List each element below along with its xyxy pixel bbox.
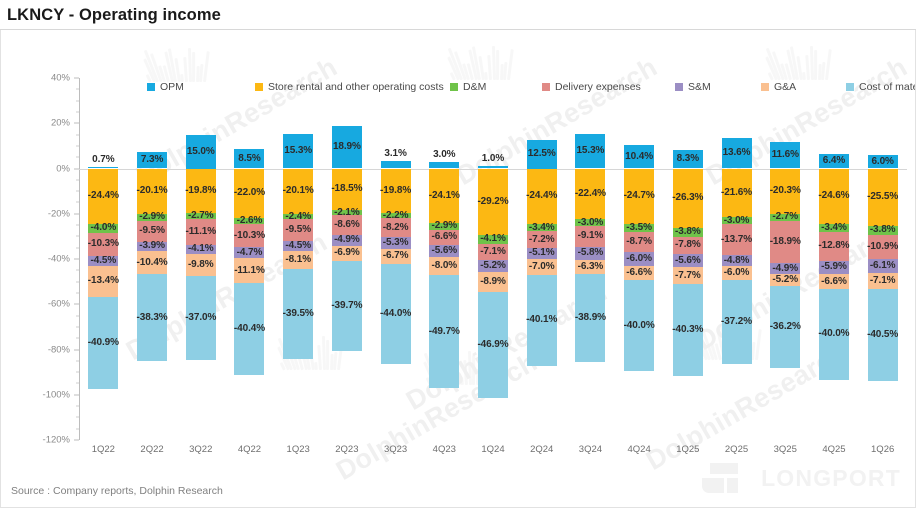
- x-axis-label: 1Q22: [92, 444, 115, 455]
- bar-segment-label: -4.5%: [285, 241, 311, 251]
- bar-segment-label: 7.3%: [141, 155, 163, 165]
- bar-segment-label: -4.1%: [480, 234, 506, 244]
- bar-segment[interactable]: -4.7%: [234, 247, 264, 258]
- bar-segment-label: -4.9%: [772, 264, 798, 274]
- bar-segment[interactable]: -7.0%: [527, 259, 557, 275]
- legend-item-store-rental-and-other-operating-costs[interactable]: Store rental and other operating costs: [255, 80, 444, 94]
- bar-segment[interactable]: -11.1%: [186, 219, 216, 244]
- bar-segment-label: -7.7%: [675, 271, 701, 281]
- bar-segment-label: -46.9%: [477, 340, 508, 350]
- bar-segment[interactable]: 8.5%: [234, 149, 264, 168]
- bar-segment-label: -20.3%: [770, 186, 801, 196]
- bar-segment[interactable]: -11.1%: [234, 258, 264, 283]
- bar-segment-label: -25.5%: [867, 192, 898, 202]
- x-axis-label: 1Q24: [481, 444, 504, 455]
- bar-segment[interactable]: -25.5%: [868, 169, 898, 227]
- bar-segment[interactable]: 8.3%: [673, 150, 703, 169]
- bar-segment[interactable]: -29.2%: [478, 169, 508, 235]
- source-note: Source : Company reports, Dolphin Resear…: [11, 485, 223, 497]
- bar-segment-label: -19.8%: [185, 186, 216, 196]
- bar-segment-label: -40.0%: [624, 321, 655, 331]
- bar-segment-label: 8.3%: [677, 154, 699, 164]
- bar-segment-label: -10.4%: [137, 258, 168, 268]
- bar-segment[interactable]: -8.0%: [429, 257, 459, 275]
- bar-segment[interactable]: -19.8%: [186, 169, 216, 214]
- bar-segment[interactable]: -6.1%: [868, 259, 898, 273]
- bar-segment-label: -12.8%: [818, 241, 849, 251]
- bar-segment[interactable]: -40.1%: [527, 275, 557, 366]
- legend-swatch-icon: [542, 83, 550, 91]
- bar-segment-label: -18.5%: [331, 184, 362, 194]
- x-axis-label: 2Q23: [335, 444, 358, 455]
- bar-segment-label: -6.6%: [626, 268, 652, 278]
- x-axis-label: 4Q24: [627, 444, 650, 455]
- bar-segment[interactable]: -10.4%: [137, 251, 167, 275]
- chart-page: LKNCY - Operating income DolphinResearch…: [0, 0, 916, 508]
- bar-segment[interactable]: -36.2%: [770, 286, 800, 368]
- bar-stack[interactable]: 15.0%-19.8%-2.7%-11.1%-4.1%-9.8%-37.0%: [186, 78, 216, 440]
- bar-segment-label: -37.2%: [721, 317, 752, 327]
- bar-segment[interactable]: -4.1%: [186, 245, 216, 254]
- bar-stack[interactable]: 6.0%-25.5%-3.8%-10.9%-6.1%-7.1%-40.5%: [868, 78, 898, 440]
- legend-item-delivery-expenses[interactable]: Delivery expenses: [542, 80, 641, 94]
- bar-segment[interactable]: -39.7%: [332, 261, 362, 351]
- bar-segment[interactable]: -3.8%: [868, 226, 898, 235]
- bar-segment-label: -4.7%: [237, 248, 263, 258]
- bar-segment-label: 18.9%: [333, 142, 361, 152]
- bar-segment-label: -5.2%: [480, 261, 506, 271]
- bar-segment-label: -38.3%: [137, 313, 168, 323]
- bar-segment[interactable]: -13.4%: [88, 266, 118, 296]
- legend-item-label: Delivery expenses: [555, 81, 641, 93]
- bar-segment[interactable]: -38.3%: [137, 274, 167, 361]
- legend-item-label: G&A: [774, 81, 796, 93]
- bar-segment-label: -4.9%: [334, 235, 360, 245]
- bar-segment[interactable]: -7.1%: [868, 273, 898, 289]
- x-axis-label: 2Q22: [140, 444, 163, 455]
- bar-segment-label: -10.9%: [867, 242, 898, 252]
- bar-segment-label: -4.0%: [91, 223, 117, 233]
- bar-segment-label: -40.0%: [818, 329, 849, 339]
- legend-item-cost-of-materials[interactable]: Cost of materials: [846, 80, 916, 94]
- x-axis-label: 1Q23: [287, 444, 310, 455]
- bar-segment[interactable]: 3.0%: [429, 162, 459, 169]
- bar-segment[interactable]: -13.7%: [722, 224, 752, 255]
- legend-item-s-m[interactable]: S&M: [675, 80, 711, 94]
- bar-segment[interactable]: 15.3%: [283, 134, 313, 169]
- bar-segment-label: -19.8%: [380, 186, 411, 196]
- bar-segment-label: -5.6%: [431, 246, 457, 256]
- bar-segment[interactable]: -10.9%: [868, 235, 898, 260]
- bar-segment[interactable]: 11.6%: [770, 142, 800, 168]
- bar-segment-label: -10.3%: [234, 231, 265, 241]
- bar-segment-label: 15.0%: [187, 147, 215, 157]
- bar-segment-label: -4.8%: [724, 256, 750, 266]
- bar-segment[interactable]: -37.0%: [186, 276, 216, 360]
- bar-segment-label: -20.1%: [283, 186, 314, 196]
- bar-segment[interactable]: -37.2%: [722, 280, 752, 364]
- bar-stack[interactable]: 15.3%-22.4%-3.0%-9.1%-5.8%-6.3%-38.9%: [575, 78, 605, 440]
- bar-segment[interactable]: -49.7%: [429, 275, 459, 387]
- bar-group: 0.7%-24.4%-4.0%-10.3%-4.5%-13.4%-40.9%7.…: [79, 78, 907, 440]
- legend-item-d-m[interactable]: D&M: [450, 80, 486, 94]
- x-axis-label: 4Q25: [822, 444, 845, 455]
- bar-segment-label: -5.9%: [821, 262, 847, 272]
- bar-segment-label: -5.6%: [675, 256, 701, 266]
- bar-segment-label: -6.6%: [821, 277, 847, 287]
- legend-swatch-icon: [147, 83, 155, 91]
- bar-segment-label: -6.0%: [626, 254, 652, 264]
- bar-segment-label: -5.3%: [383, 238, 409, 248]
- legend-item-label: Store rental and other operating costs: [268, 81, 444, 93]
- x-axis-label: 3Q25: [774, 444, 797, 455]
- bar-segment-label: -13.7%: [721, 235, 752, 245]
- bar-segment-label: -5.8%: [578, 248, 604, 258]
- bar-segment-label: -39.5%: [283, 309, 314, 319]
- x-axis-label: 3Q24: [579, 444, 602, 455]
- legend-swatch-icon: [675, 83, 683, 91]
- chart-card: DolphinResearchDolphinResearchDolphinRes…: [0, 30, 916, 508]
- bar-segment-label: -11.1%: [234, 266, 265, 276]
- bar-segment-label: -13.4%: [88, 276, 119, 286]
- bar-segment[interactable]: -4.5%: [88, 256, 118, 266]
- bar-segment-label: -8.6%: [334, 220, 360, 230]
- bar-segment-label: -40.3%: [672, 325, 703, 335]
- bar-stack[interactable]: 18.9%-18.5%-2.1%-8.6%-4.9%-6.9%-39.7%: [332, 78, 362, 440]
- bar-segment[interactable]: -8.2%: [381, 218, 411, 237]
- axis-area: 40%20%0%-20%-40%-60%-80%-100%-120%0.7%-2…: [79, 78, 907, 440]
- x-axis-label: 4Q22: [238, 444, 261, 455]
- x-axis-label: 3Q23: [384, 444, 407, 455]
- bar-segment[interactable]: 13.6%: [722, 138, 752, 169]
- bar-segment[interactable]: -7.8%: [673, 237, 703, 255]
- bar-segment-label: 10.4%: [625, 152, 653, 162]
- bar-segment[interactable]: -6.7%: [381, 249, 411, 264]
- bar-segment[interactable]: -3.9%: [137, 242, 167, 251]
- bar-segment-label: -24.6%: [818, 191, 849, 201]
- bar-segment[interactable]: 15.0%: [186, 135, 216, 169]
- bar-segment[interactable]: -10.3%: [234, 224, 264, 247]
- bar-stack[interactable]: 8.3%-26.3%-3.8%-7.8%-5.6%-7.7%-40.3%: [673, 78, 703, 440]
- bar-segment-label: -49.7%: [429, 327, 460, 337]
- bar-segment-label: -8.9%: [480, 277, 506, 287]
- bar-segment[interactable]: -5.3%: [381, 237, 411, 249]
- bar-segment-label: -6.0%: [724, 268, 750, 278]
- bar-segment[interactable]: -24.4%: [88, 169, 118, 224]
- legend-item-label: Cost of materials: [859, 81, 916, 93]
- bar-segment-label: 3.1%: [384, 149, 406, 159]
- bar-segment-label: -7.1%: [870, 276, 896, 286]
- bar-segment-label: 8.5%: [238, 154, 260, 164]
- bar-stack[interactable]: 3.1%-19.8%-2.2%-8.2%-5.3%-6.7%-44.0%: [381, 78, 411, 440]
- bar-segment-label: -5.1%: [529, 248, 555, 258]
- bar-segment[interactable]: -10.3%: [88, 233, 118, 256]
- bar-segment[interactable]: 6.0%: [868, 155, 898, 169]
- bar-segment[interactable]: -24.7%: [624, 169, 654, 225]
- bar-segment[interactable]: -8.6%: [332, 215, 362, 234]
- bar-segment-label: -9.1%: [578, 231, 604, 241]
- bar-segment[interactable]: -5.6%: [429, 245, 459, 258]
- bar-segment[interactable]: -4.9%: [770, 263, 800, 274]
- bar-segment[interactable]: -46.9%: [478, 292, 508, 398]
- bar-segment-label: 6.4%: [823, 156, 845, 166]
- bar-segment-label: -29.2%: [477, 197, 508, 207]
- chart-legend: OPMStore rental and other operating cost…: [1, 80, 916, 94]
- bar-segment[interactable]: -22.0%: [234, 169, 264, 219]
- bar-segment[interactable]: -6.6%: [819, 274, 849, 289]
- bar-segment[interactable]: 3.1%: [381, 161, 411, 168]
- bar-segment-label: -22.0%: [234, 188, 265, 198]
- bar-segment[interactable]: 7.3%: [137, 152, 167, 169]
- bar-segment[interactable]: -18.9%: [770, 221, 800, 264]
- bar-segment[interactable]: -7.1%: [478, 244, 508, 260]
- x-axis-label: 4Q23: [433, 444, 456, 455]
- bar-segment[interactable]: -3.0%: [722, 217, 752, 224]
- bar-segment-label: 0.7%: [92, 155, 114, 165]
- bar-segment-label: -9.5%: [139, 226, 165, 236]
- bar-segment-label: -6.6%: [431, 232, 457, 242]
- bar-segment-label: -24.4%: [88, 191, 119, 201]
- bar-stack[interactable]: 13.6%-21.6%-3.0%-13.7%-4.8%-6.0%-37.2%: [722, 78, 752, 440]
- bar-segment[interactable]: -4.0%: [88, 224, 118, 233]
- bar-segment-label: -6.9%: [334, 248, 360, 258]
- page-title: LKNCY - Operating income: [0, 6, 221, 25]
- bar-segment[interactable]: -4.9%: [332, 235, 362, 246]
- bar-segment-label: -40.1%: [526, 315, 557, 325]
- bar-segment[interactable]: -8.9%: [478, 272, 508, 292]
- bar-segment-label: -18.9%: [770, 237, 801, 247]
- bar-segment[interactable]: -26.3%: [673, 169, 703, 229]
- bar-segment[interactable]: -9.1%: [575, 226, 605, 247]
- bar-segment[interactable]: -24.6%: [819, 169, 849, 225]
- bar-segment[interactable]: -19.8%: [381, 169, 411, 214]
- bar-stack[interactable]: 12.5%-24.4%-3.4%-7.2%-5.1%-7.0%-40.1%: [527, 78, 557, 440]
- bar-segment[interactable]: -6.9%: [332, 246, 362, 262]
- legend-item-opm[interactable]: OPM: [147, 80, 184, 94]
- bar-segment[interactable]: -3.4%: [527, 224, 557, 232]
- bar-segment[interactable]: -5.2%: [478, 260, 508, 272]
- bar-segment[interactable]: 10.4%: [624, 145, 654, 169]
- bar-segment[interactable]: -24.1%: [429, 169, 459, 224]
- bar-stack[interactable]: 8.5%-22.0%-2.6%-10.3%-4.7%-11.1%-40.4%: [234, 78, 264, 440]
- bar-stack[interactable]: 0.7%-24.4%-4.0%-10.3%-4.5%-13.4%-40.9%: [88, 78, 118, 440]
- legend-item-label: OPM: [160, 81, 184, 93]
- bar-segment-label: -9.5%: [285, 225, 311, 235]
- bar-segment-label: -9.8%: [188, 260, 214, 270]
- bar-segment[interactable]: -2.9%: [429, 223, 459, 230]
- bar-segment[interactable]: -20.3%: [770, 169, 800, 215]
- bar-segment-label: -26.3%: [672, 193, 703, 203]
- bar-segment[interactable]: -40.0%: [624, 280, 654, 371]
- bar-segment[interactable]: -18.5%: [332, 169, 362, 211]
- bar-segment-label: -4.1%: [188, 244, 214, 254]
- bar-segment-label: 15.3%: [576, 146, 604, 156]
- title-bar: LKNCY - Operating income: [0, 0, 916, 30]
- bar-segment[interactable]: -5.9%: [819, 261, 849, 274]
- bar-segment-label: 6.0%: [871, 157, 893, 167]
- bar-segment[interactable]: -6.6%: [429, 230, 459, 245]
- bar-segment-label: -6.7%: [383, 251, 409, 261]
- bar-segment[interactable]: -3.0%: [575, 219, 605, 226]
- bar-segment-label: -40.5%: [867, 330, 898, 340]
- bar-segment[interactable]: -9.8%: [186, 254, 216, 276]
- bar-segment-label: -10.3%: [88, 239, 119, 249]
- bar-segment[interactable]: -22.4%: [575, 169, 605, 220]
- bar-segment[interactable]: -3.4%: [819, 224, 849, 232]
- x-axis-label: 3Q22: [189, 444, 212, 455]
- bar-segment[interactable]: -39.5%: [283, 269, 313, 358]
- bar-segment-label: -40.9%: [88, 338, 119, 348]
- legend-swatch-icon: [255, 83, 263, 91]
- bar-segment[interactable]: -7.7%: [673, 267, 703, 284]
- bar-segment[interactable]: -9.5%: [283, 219, 313, 240]
- bar-segment-label: -6.1%: [870, 261, 896, 271]
- bar-segment-label: -11.1%: [185, 227, 216, 237]
- x-axis-label: 1Q25: [676, 444, 699, 455]
- bar-segment-label: -21.6%: [721, 188, 752, 198]
- x-axis-labels: 1Q222Q223Q224Q221Q232Q233Q234Q231Q242Q24…: [79, 444, 907, 460]
- bar-segment[interactable]: 18.9%: [332, 126, 362, 169]
- bar-segment[interactable]: -5.1%: [527, 248, 557, 260]
- bar-stack[interactable]: 15.3%-20.1%-2.4%-9.5%-4.5%-8.1%-39.5%: [283, 78, 313, 440]
- bar-segment[interactable]: -4.5%: [283, 241, 313, 251]
- bar-segment[interactable]: -38.9%: [575, 274, 605, 362]
- bar-stack[interactable]: 6.4%-24.6%-3.4%-12.8%-5.9%-6.6%-40.0%: [819, 78, 849, 440]
- bar-segment-label: -38.9%: [575, 313, 606, 323]
- bar-segment[interactable]: -21.6%: [722, 169, 752, 218]
- bar-segment-label: 1.0%: [482, 154, 504, 164]
- legend-swatch-icon: [846, 83, 854, 91]
- bar-stack[interactable]: 7.3%-20.1%-2.9%-9.5%-3.9%-10.4%-38.3%: [137, 78, 167, 440]
- bar-segment[interactable]: -7.2%: [527, 231, 557, 247]
- bar-segment-label: -7.8%: [675, 240, 701, 250]
- bar-segment-label: -6.3%: [578, 262, 604, 272]
- bar-segment-label: -40.4%: [234, 324, 265, 334]
- bar-segment[interactable]: -5.8%: [575, 247, 605, 260]
- bar-segment[interactable]: -44.0%: [381, 264, 411, 364]
- bar-segment-label: -8.7%: [626, 237, 652, 247]
- bar-segment[interactable]: -5.2%: [770, 274, 800, 286]
- bar-segment[interactable]: -40.9%: [88, 297, 118, 390]
- bar-segment-label: -20.1%: [137, 186, 168, 196]
- x-axis-label: 2Q25: [725, 444, 748, 455]
- bar-segment-label: -7.2%: [529, 235, 555, 245]
- x-axis-label: 1Q26: [871, 444, 894, 455]
- bar-segment-label: -8.2%: [383, 223, 409, 233]
- bar-segment[interactable]: 6.4%: [819, 154, 849, 168]
- bar-stack[interactable]: 3.0%-24.1%-2.9%-6.6%-5.6%-8.0%-49.7%: [429, 78, 459, 440]
- bar-segment[interactable]: 12.5%: [527, 140, 557, 168]
- bar-segment-label: -44.0%: [380, 309, 411, 319]
- bar-segment-label: -8.0%: [431, 261, 457, 271]
- bar-segment[interactable]: -3.5%: [624, 224, 654, 232]
- x-axis-label: 2Q24: [530, 444, 553, 455]
- plot-area: 40%20%0%-20%-40%-60%-80%-100%-120%0.7%-2…: [1, 30, 916, 508]
- bar-segment[interactable]: -40.3%: [673, 284, 703, 375]
- bar-segment[interactable]: -6.6%: [624, 266, 654, 281]
- bar-segment[interactable]: -9.5%: [137, 221, 167, 242]
- bar-segment-label: -24.1%: [429, 191, 460, 201]
- bar-segment[interactable]: -2.9%: [137, 214, 167, 221]
- bar-segment[interactable]: -24.4%: [527, 169, 557, 224]
- bar-segment-label: 12.5%: [528, 149, 556, 159]
- bar-segment-label: -39.7%: [331, 301, 362, 311]
- bar-segment-label: -8.1%: [285, 255, 311, 265]
- bar-segment-label: -5.2%: [772, 275, 798, 285]
- bar-segment[interactable]: -4.8%: [722, 255, 752, 266]
- bar-segment-label: -37.0%: [185, 313, 216, 323]
- legend-swatch-icon: [761, 83, 769, 91]
- legend-item-label: D&M: [463, 81, 486, 93]
- bar-segment-label: 3.0%: [433, 150, 455, 160]
- bar-segment[interactable]: -12.8%: [819, 232, 849, 261]
- legend-item-g-a[interactable]: G&A: [761, 80, 796, 94]
- legend-item-label: S&M: [688, 81, 711, 93]
- bar-segment[interactable]: -20.1%: [283, 169, 313, 214]
- bar-stack[interactable]: 11.6%-20.3%-2.7%-18.9%-4.9%-5.2%-36.2%: [770, 78, 800, 440]
- bar-segment-label: 13.6%: [723, 148, 751, 158]
- bar-stack[interactable]: 10.4%-24.7%-3.5%-8.7%-6.0%-6.6%-40.0%: [624, 78, 654, 440]
- bar-segment[interactable]: -4.1%: [478, 235, 508, 244]
- bar-segment[interactable]: -6.0%: [722, 266, 752, 280]
- bar-segment[interactable]: -40.4%: [234, 283, 264, 374]
- bar-segment[interactable]: -6.3%: [575, 260, 605, 274]
- bar-segment-label: -22.4%: [575, 189, 606, 199]
- bar-segment-label: -4.5%: [91, 256, 117, 266]
- legend-swatch-icon: [450, 83, 458, 91]
- bar-segment-label: 15.3%: [284, 146, 312, 156]
- bar-segment[interactable]: -40.5%: [868, 289, 898, 381]
- bar-segment-label: -7.1%: [480, 247, 506, 257]
- bar-segment[interactable]: -6.0%: [624, 252, 654, 266]
- bar-stack[interactable]: 1.0%-29.2%-4.1%-7.1%-5.2%-8.9%-46.9%: [478, 78, 508, 440]
- bar-segment[interactable]: 15.3%: [575, 134, 605, 169]
- bar-segment-label: -24.7%: [624, 191, 655, 201]
- bar-segment[interactable]: -5.6%: [673, 254, 703, 267]
- bar-segment-label: -24.4%: [526, 191, 557, 201]
- bar-segment-label: 11.6%: [772, 150, 799, 160]
- bar-segment[interactable]: -8.7%: [624, 232, 654, 252]
- bar-segment[interactable]: -40.0%: [819, 289, 849, 380]
- bar-segment[interactable]: -20.1%: [137, 169, 167, 214]
- bar-segment-label: -36.2%: [770, 322, 801, 332]
- bar-segment[interactable]: -8.1%: [283, 251, 313, 269]
- bar-segment-label: -7.0%: [529, 262, 555, 272]
- bar-segment[interactable]: -3.8%: [673, 228, 703, 237]
